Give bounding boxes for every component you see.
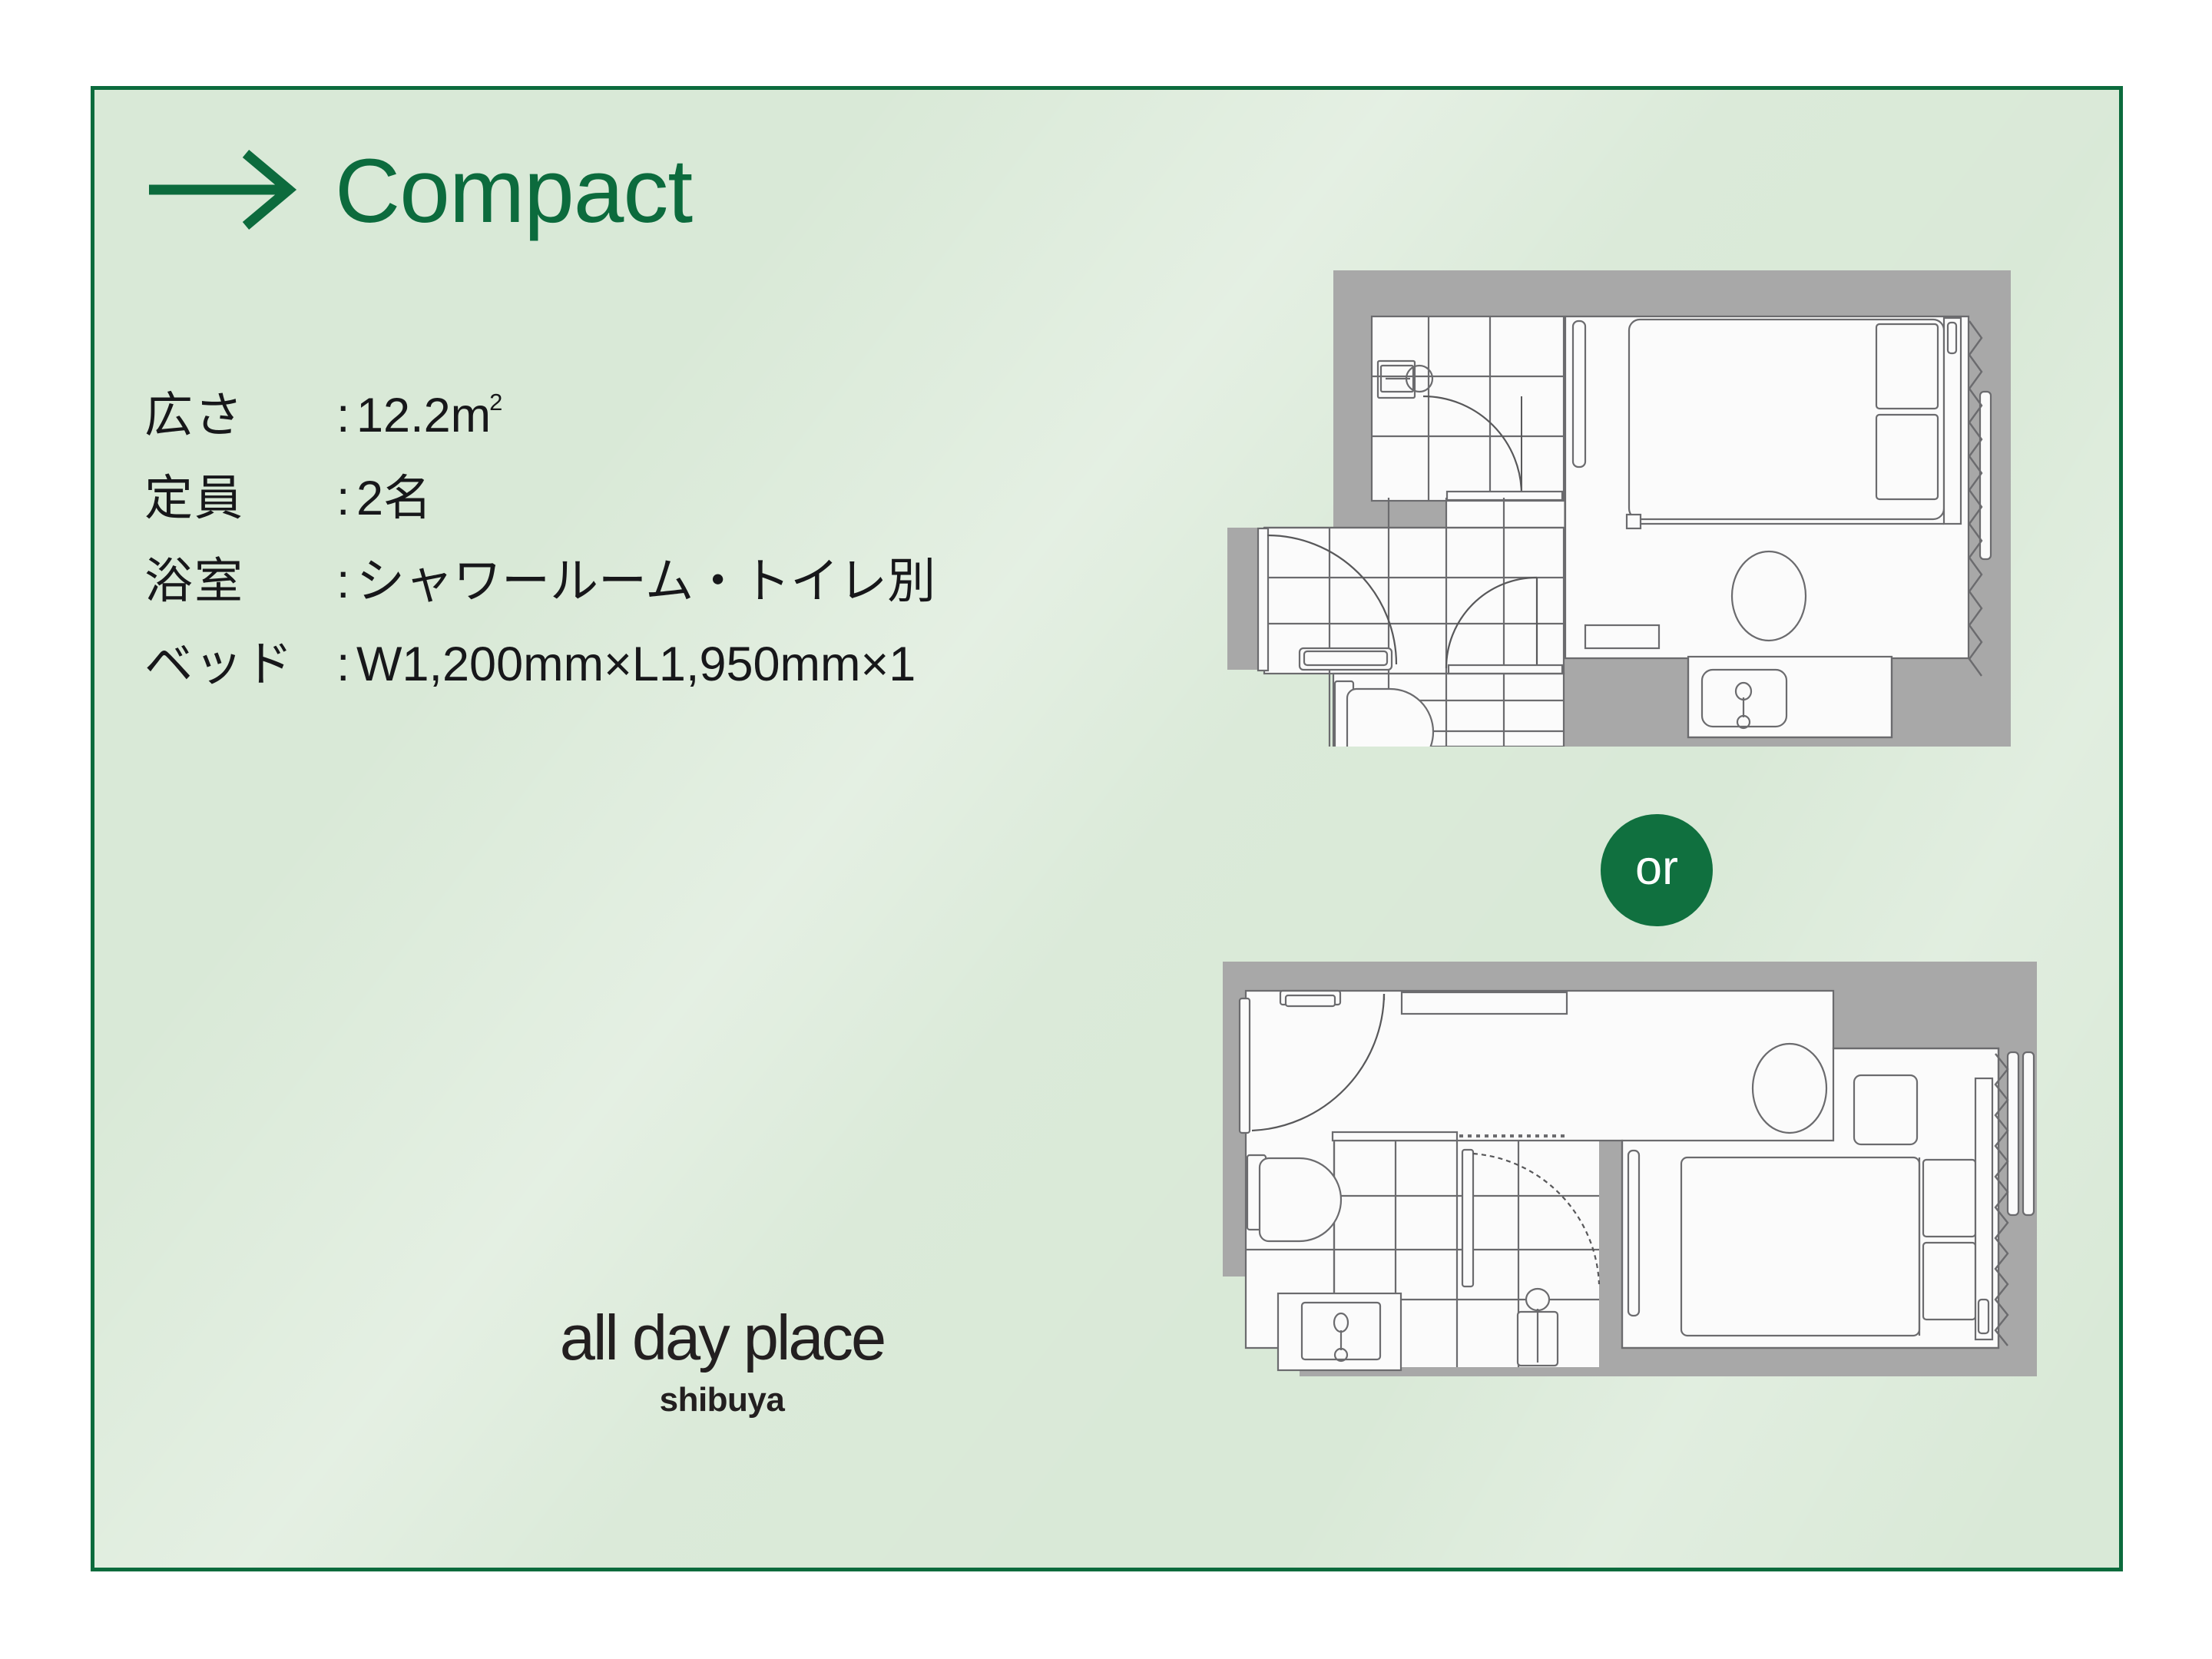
- slide-canvas: Compact 広さ : 12.2m2 定員 : 2名 浴室 : シャワールーム…: [0, 0, 2212, 1659]
- brand-logo: all day place shibuya: [499, 1306, 945, 1417]
- spec-separator: :: [336, 637, 356, 692]
- page-title: Compact: [335, 146, 692, 237]
- spec-separator: :: [336, 554, 356, 609]
- spec-label-bathroom: 浴室: [144, 542, 336, 612]
- spec-label-bed: ベッド: [144, 625, 336, 695]
- spec-row-bathroom: 浴室 : シャワールーム・トイレ別: [144, 542, 935, 625]
- spec-value-area-superscript: 2: [489, 389, 502, 416]
- spec-value-bathroom: シャワールーム・トイレ別: [356, 542, 935, 612]
- spec-value-bed: W1,200mm×L1,950mm×1: [356, 637, 916, 692]
- compact-floor-plan-variant-b: [1192, 962, 2037, 1376]
- brand-logo-location: shibuya: [499, 1383, 945, 1417]
- spec-separator: :: [336, 471, 356, 526]
- spec-row-capacity: 定員 : 2名: [144, 459, 935, 542]
- spec-separator: :: [336, 388, 356, 443]
- page-title-group: Compact: [146, 146, 692, 237]
- brand-logo-name: all day place: [499, 1306, 945, 1369]
- spec-list: 広さ : 12.2m2 定員 : 2名 浴室 : シャワールーム・トイレ別 ベッ…: [144, 376, 935, 708]
- spec-value-area: 12.2m2: [356, 388, 504, 443]
- compact-floor-plan-variant-a: [1227, 270, 2011, 747]
- spec-label-area: 広さ: [144, 376, 336, 446]
- arrow-right-icon: [146, 147, 300, 236]
- spec-label-capacity: 定員: [144, 459, 336, 529]
- spec-value-area-text: 12.2m: [356, 389, 491, 442]
- or-badge: or: [1601, 814, 1713, 926]
- spec-row-area: 広さ : 12.2m2: [144, 376, 935, 459]
- or-badge-label: or: [1635, 844, 1678, 892]
- spec-value-capacity: 2名: [356, 459, 432, 529]
- spec-row-bed: ベッド : W1,200mm×L1,950mm×1: [144, 625, 935, 708]
